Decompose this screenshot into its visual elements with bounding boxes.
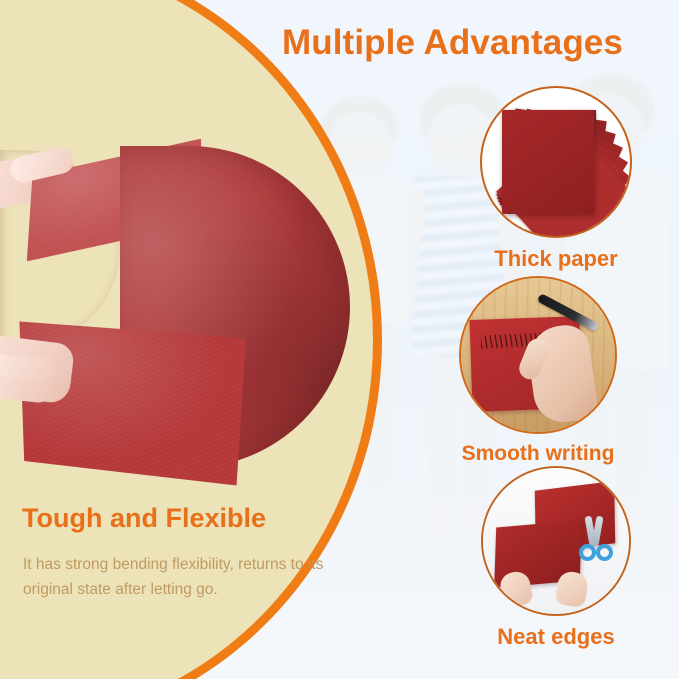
feature-label-thick-paper: Thick paper (468, 246, 644, 272)
neat-edges-icon (481, 466, 631, 616)
left-panel-body-text: It has strong bending flexibility, retur… (23, 552, 353, 602)
feature-label-smooth-writing: Smooth writing (450, 442, 626, 466)
thick-paper-icon (480, 86, 632, 238)
page-title: Multiple Advantages (282, 23, 674, 63)
feature-smooth-writing: Smooth writing (450, 276, 626, 466)
thick-paper-front-sheet (502, 110, 594, 214)
infographic-canvas: Multiple Advantages Tough and Flexible I… (0, 0, 679, 679)
feature-label-neat-edges: Neat edges (468, 624, 644, 650)
scissors-handle-left (579, 544, 596, 561)
left-panel-heading: Tough and Flexible (22, 503, 266, 534)
smooth-writing-icon (459, 276, 617, 434)
scissors-handle-right (596, 544, 613, 561)
hero-bending-cardstock-image (0, 150, 340, 480)
feature-thick-paper: Thick paper (468, 86, 644, 272)
feature-neat-edges: Neat edges (468, 466, 644, 650)
